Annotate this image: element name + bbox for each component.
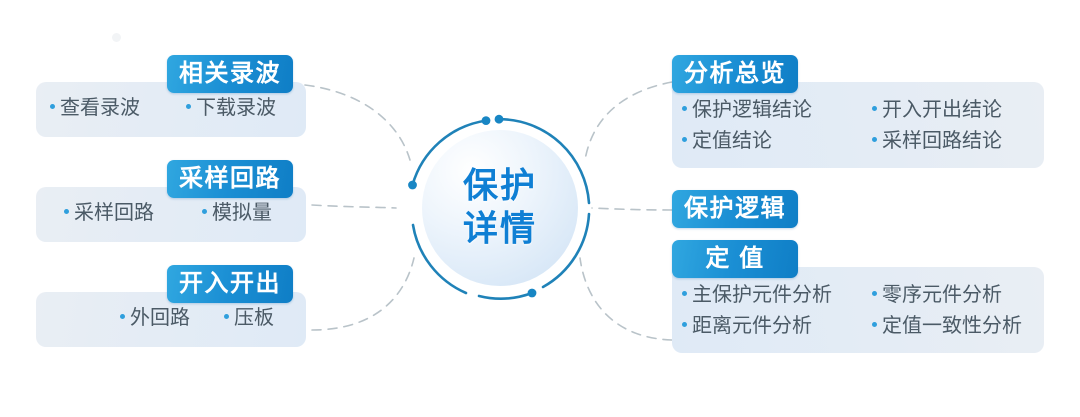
bullet-icon [682,291,687,296]
connector-right-2 [592,208,672,210]
item-label: 距离元件分析 [692,311,812,342]
item-label: 开入开出结论 [882,95,1002,126]
group-related-waveform[interactable]: 相关录波 查看录波 下载录波 [36,55,306,135]
bullet-icon [202,209,207,214]
item-analog-value[interactable]: 模拟量 [202,198,302,229]
bullet-icon [186,104,191,109]
item-setting-conclusion[interactable]: 定值结论 [682,126,872,157]
ring-arc-4 [479,293,532,299]
bullet-icon [872,106,877,111]
badge-protection-logic[interactable]: 保护逻辑 [672,190,798,228]
item-label: 压板 [234,303,274,334]
item-label: 下载录波 [196,93,276,124]
badge-related-waveform[interactable]: 相关录波 [167,55,293,93]
bullet-icon [872,291,877,296]
badge-setting-value[interactable]: 定 值 [672,240,798,278]
decorative-dot [112,33,121,42]
item-pressure-plate[interactable]: 压板 [224,303,304,334]
bullet-icon [682,322,687,327]
group-setting-value[interactable]: 定 值 主保护元件分析 零序元件分析 距离元件分析 定值一致性分析 [672,240,1044,353]
item-label: 定值一致性分析 [882,311,1022,342]
item-main-protection-element-analysis[interactable]: 主保护元件分析 [682,280,872,311]
badge-sampling-circuit[interactable]: 采样回路 [167,160,293,198]
item-external-circuit[interactable]: 外回路 [120,303,224,334]
ring-dot-top-left [482,116,491,125]
item-label: 采样回路 [74,198,154,229]
connector-left-1 [305,85,410,160]
item-zero-sequence-element-analysis[interactable]: 零序元件分析 [872,280,1042,311]
item-label: 查看录波 [60,93,140,124]
bullet-icon [872,137,877,142]
bullet-icon [872,322,877,327]
item-distance-element-analysis[interactable]: 距离元件分析 [682,311,872,342]
hub-title-line1: 保护 [400,165,600,208]
item-label: 主保护元件分析 [692,280,832,311]
bullet-icon [682,106,687,111]
item-view-waveform[interactable]: 查看录波 [50,93,186,124]
group-sampling-circuit[interactable]: 采样回路 采样回路 模拟量 [36,160,306,240]
badge-analysis-overview[interactable]: 分析总览 [672,55,798,93]
diagram-canvas: 保护 详情 相关录波 查看录波 下载录波 采样回路 采样回路 [0,0,1080,417]
connector-left-2 [312,205,396,208]
item-sampling-circuit-conclusion[interactable]: 采样回路结论 [872,126,1042,157]
item-label: 外回路 [130,303,190,334]
bullet-icon [50,104,55,109]
ring-dot-bottom [528,289,537,298]
badge-digital-io[interactable]: 开入开出 [167,265,293,303]
item-label: 模拟量 [212,198,272,229]
item-download-waveform[interactable]: 下载录波 [186,93,306,124]
hub-title: 保护 详情 [400,165,600,250]
item-sampling-circuit[interactable]: 采样回路 [64,198,202,229]
item-label: 保护逻辑结论 [692,95,812,126]
item-protection-logic-conclusion[interactable]: 保护逻辑结论 [682,95,872,126]
connector-left-3 [312,258,414,330]
item-label: 零序元件分析 [882,280,1002,311]
hub-title-line2: 详情 [400,208,600,251]
bullet-icon [120,314,125,319]
item-label: 采样回路结论 [882,126,1002,157]
group-protection-logic[interactable]: 保护逻辑 [672,190,798,228]
group-analysis-overview[interactable]: 分析总览 保护逻辑结论 开入开出结论 定值结论 采样回路结论 [672,55,1044,168]
bullet-icon [682,137,687,142]
bullet-icon [64,209,69,214]
group-digital-io[interactable]: 开入开出 外回路 压板 [36,265,306,345]
bullet-icon [224,314,229,319]
ring-dot-top-right [495,115,504,124]
item-digital-io-conclusion[interactable]: 开入开出结论 [872,95,1042,126]
item-setting-consistency-analysis[interactable]: 定值一致性分析 [872,311,1042,342]
hub[interactable]: 保护 详情 [400,108,600,308]
item-label: 定值结论 [692,126,772,157]
